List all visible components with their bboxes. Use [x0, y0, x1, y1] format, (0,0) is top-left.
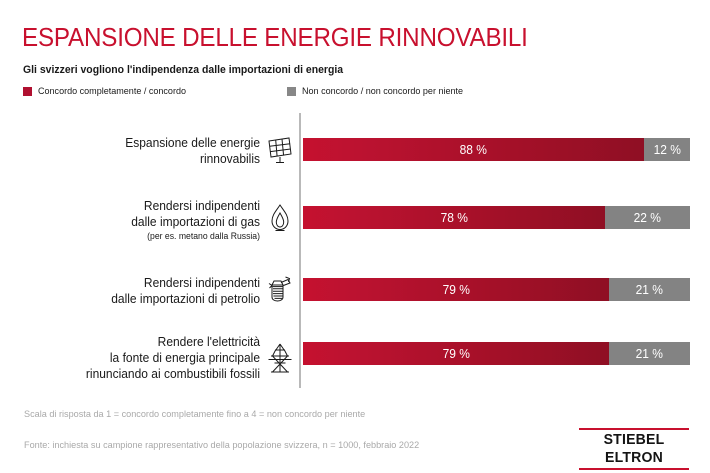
legend-item-agree: Concordo completamente / concordo [23, 86, 194, 97]
row-label-line: Rendersi indipendenti [144, 276, 260, 290]
row-label-line: Espansione delle energie [125, 136, 260, 150]
row-label: Rendere l'elettricità la fonte di energi… [1, 334, 260, 382]
bar-segment-agree: 79 % [303, 278, 609, 301]
bar-value-disagree: 21 % [636, 347, 663, 361]
bar-value-disagree: 12 % [653, 143, 680, 157]
chart-row-renewables: Espansione delle energie rinnovabilis 88… [0, 128, 710, 186]
stacked-bar: 79 % 21 % [303, 278, 690, 301]
row-label: Rendersi indipendenti dalle importazioni… [1, 198, 260, 243]
gas-flame-icon [263, 201, 297, 235]
infographic-page: ESPANSIONE DELLE ENERGIE RINNOVABILI Gli… [0, 0, 710, 473]
oil-can-icon [263, 272, 297, 306]
scale-note: Scala di risposta da 1 = concordo comple… [24, 409, 365, 420]
row-label-line: la fonte di energia principale [110, 351, 260, 365]
row-label-line: Rendere l'elettricità [158, 335, 260, 349]
row-label: Espansione delle energie rinnovabilis [1, 135, 260, 167]
row-label-line: Rendersi indipendenti [144, 199, 260, 213]
legend-label-disagree: Non concordo / non concordo per niente [302, 86, 463, 97]
legend: Concordo completamente / concordo Non co… [23, 86, 471, 97]
bar-value-disagree: 22 % [634, 211, 661, 225]
logo-rule-bottom [579, 468, 689, 470]
bar-value-agree: 79 % [442, 347, 469, 361]
bar-segment-disagree: 21 % [609, 278, 690, 301]
square-swatch-icon [287, 87, 296, 96]
power-pylon-icon [263, 341, 297, 375]
solar-panel-icon [263, 133, 297, 167]
bar-segment-agree: 79 % [303, 342, 609, 365]
bar-segment-disagree: 12 % [644, 138, 690, 161]
bar-value-agree: 88 % [460, 143, 487, 157]
bar-value-disagree: 21 % [636, 283, 663, 297]
page-title: ESPANSIONE DELLE ENERGIE RINNOVABILI [22, 22, 528, 52]
stacked-bar: 78 % 22 % [303, 206, 690, 229]
subtitle: Gli svizzeri vogliono l'indipendenza dal… [23, 63, 343, 77]
row-label-line: rinnovabilis [200, 152, 260, 166]
row-label-line: dalle importazioni di petrolio [111, 292, 260, 306]
bar-value-agree: 78 % [440, 211, 467, 225]
bar-segment-disagree: 22 % [605, 206, 690, 229]
bar-segment-agree: 78 % [303, 206, 605, 229]
stacked-bar: 79 % 21 % [303, 342, 690, 365]
chart-row-oil: Rendersi indipendenti dalle importazioni… [0, 268, 710, 326]
row-label: Rendersi indipendenti dalle importazioni… [1, 275, 260, 307]
row-label-line: dalle importazioni di gas [131, 215, 260, 229]
stacked-bar: 88 % 12 % [303, 138, 690, 161]
chart-row-electricity: Rendere l'elettricità la fonte di energi… [0, 332, 710, 390]
chart-row-gas: Rendersi indipendenti dalle importazioni… [0, 196, 710, 254]
legend-label-agree: Concordo completamente / concordo [38, 86, 186, 97]
logo-text: STIEBEL ELTRON [581, 430, 688, 468]
square-swatch-icon [23, 87, 32, 96]
source-note: Fonte: inchiesta su campione rappresenta… [24, 440, 419, 451]
bar-segment-agree: 88 % [303, 138, 644, 161]
bar-segment-disagree: 21 % [609, 342, 690, 365]
legend-item-disagree: Non concordo / non concordo per niente [287, 86, 472, 97]
row-sublabel: (per es. metano dalla Russia) [1, 230, 260, 243]
brand-logo: STIEBEL ELTRON [579, 428, 689, 470]
bar-value-agree: 79 % [442, 283, 469, 297]
row-label-line: rinunciando ai combustibili fossili [86, 367, 260, 381]
